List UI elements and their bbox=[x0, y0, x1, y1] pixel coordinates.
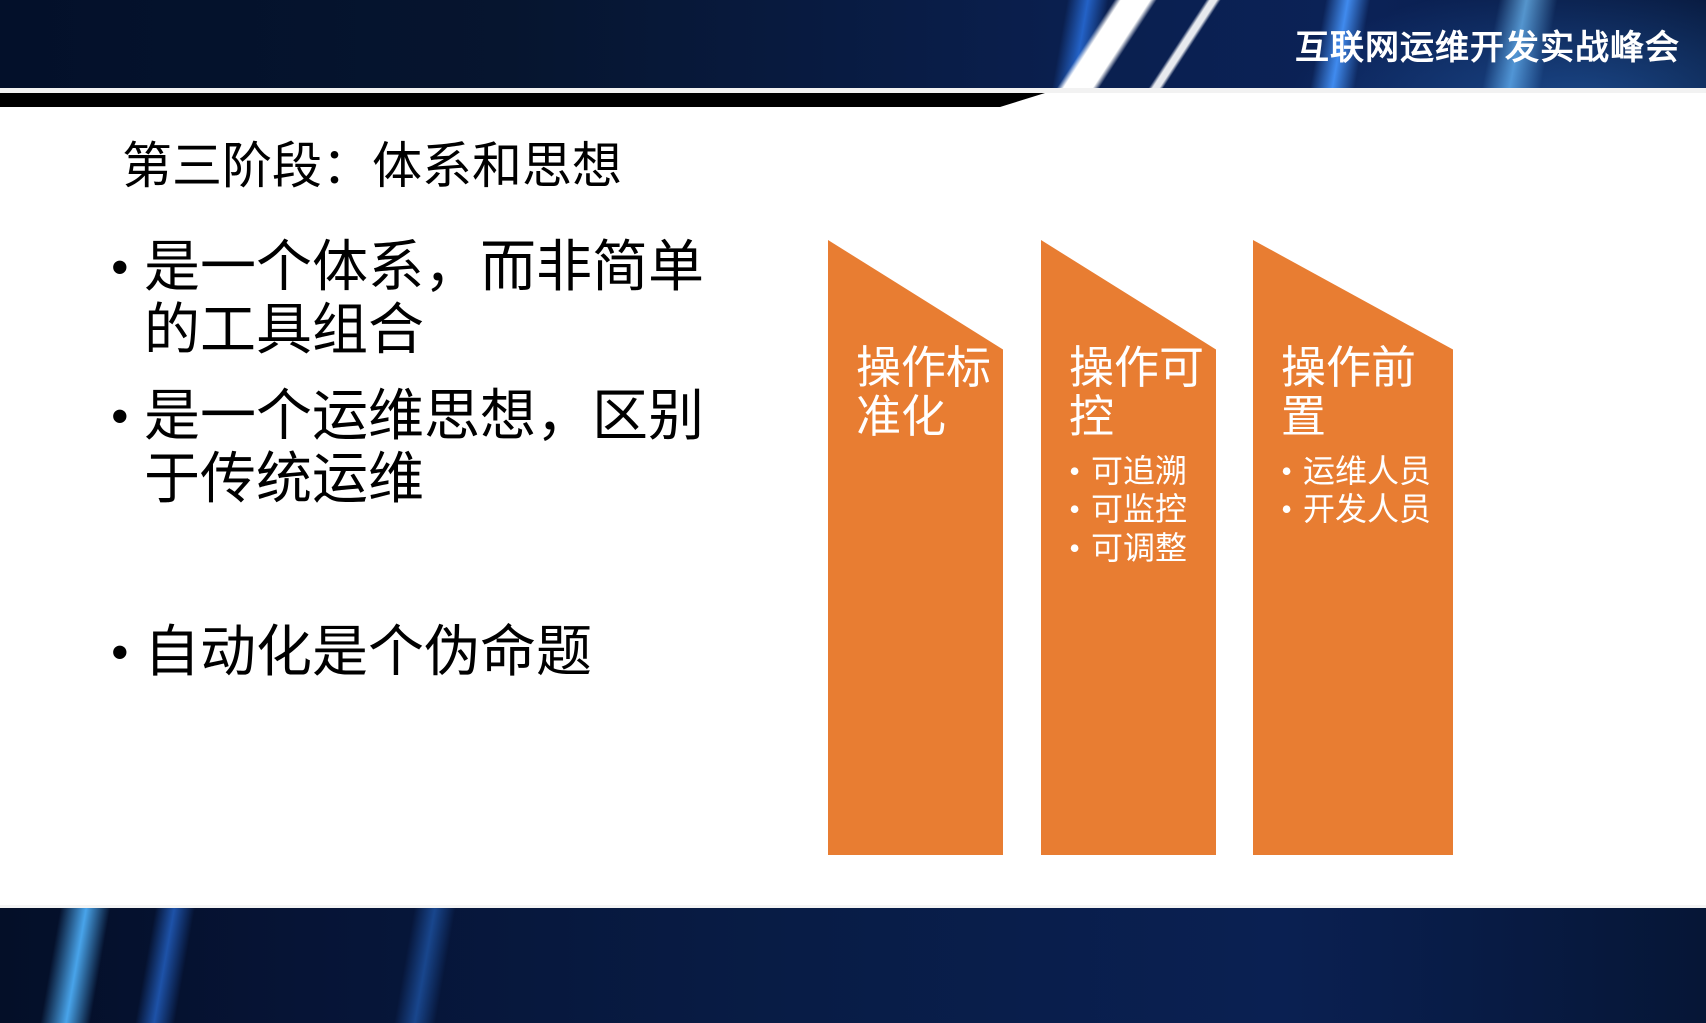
chevron-step-1: 操作标准化 bbox=[828, 240, 1003, 855]
sub-bullet-text: 开发人员 bbox=[1303, 491, 1431, 527]
bullet-marker-icon: • bbox=[110, 622, 144, 685]
bullet-marker-icon: • bbox=[110, 386, 144, 449]
bullet-text: 是一个运维思想，区别于传统运维 bbox=[144, 386, 750, 511]
bullet-text: 自动化是个伪命题 bbox=[144, 622, 592, 685]
list-item: • 运维人员 bbox=[1281, 453, 1449, 489]
sub-bullet-marker-icon: • bbox=[1069, 530, 1091, 566]
list-item: • 可追溯 bbox=[1069, 453, 1219, 489]
page-title: 第三阶段：体系和思想 bbox=[122, 139, 622, 194]
chevron-step-3-heading: 操作前置 bbox=[1281, 344, 1449, 441]
chevron-step-1-content: 操作标准化 bbox=[856, 344, 1006, 457]
bottom-banner bbox=[0, 908, 1706, 1023]
chevron-step-3: 操作前置 • 运维人员 • 开发人员 bbox=[1253, 240, 1453, 855]
chevron-step-1-heading: 操作标准化 bbox=[856, 344, 1006, 441]
list-item: • 开发人员 bbox=[1281, 491, 1449, 527]
conference-title: 互联网运维开发实战峰会 bbox=[1295, 20, 1680, 69]
chevron-step-3-content: 操作前置 • 运维人员 • 开发人员 bbox=[1281, 344, 1449, 544]
bullet-marker-icon: • bbox=[110, 237, 144, 300]
list-item: • 是一个体系，而非简单的工具组合 bbox=[110, 237, 750, 362]
list-item: • 自动化是个伪命题 bbox=[110, 622, 750, 685]
chevron-step-3-sublist: • 运维人员 • 开发人员 bbox=[1281, 453, 1449, 527]
sub-bullet-marker-icon: • bbox=[1281, 491, 1303, 527]
chevron-process-diagram: 操作标准化 操作可控 • 可追溯 • 可监控 • bbox=[828, 240, 1488, 860]
banner-diagonal-slash-icon bbox=[958, 0, 1232, 88]
sub-bullet-marker-icon: • bbox=[1281, 453, 1303, 489]
sub-bullet-marker-icon: • bbox=[1069, 453, 1091, 489]
list-item: • 可调整 bbox=[1069, 530, 1219, 566]
list-item: • 是一个运维思想，区别于传统运维 bbox=[110, 386, 750, 511]
chevron-step-2-sublist: • 可追溯 • 可监控 • 可调整 bbox=[1069, 453, 1219, 565]
bullet-text: 是一个体系，而非简单的工具组合 bbox=[144, 237, 750, 362]
sub-bullet-text: 可调整 bbox=[1091, 530, 1187, 566]
sub-bullet-text: 可监控 bbox=[1091, 491, 1187, 527]
sub-bullet-text: 运维人员 bbox=[1303, 453, 1431, 489]
chevron-step-2-heading: 操作可控 bbox=[1069, 344, 1219, 441]
banner-black-wedge bbox=[0, 93, 1706, 107]
top-banner: 互联网运维开发实战峰会 bbox=[0, 0, 1706, 88]
banner-diagonal-slash-secondary-icon bbox=[1088, 0, 1272, 88]
sub-bullet-marker-icon: • bbox=[1069, 491, 1091, 527]
slide-body: 第三阶段：体系和思想 • 是一个体系，而非简单的工具组合 • 是一个运维思想，区… bbox=[0, 107, 1706, 905]
sub-bullet-text: 可追溯 bbox=[1091, 453, 1187, 489]
chevron-step-2: 操作可控 • 可追溯 • 可监控 • 可调整 bbox=[1041, 240, 1216, 855]
list-item: • 可监控 bbox=[1069, 491, 1219, 527]
chevron-step-2-content: 操作可控 • 可追溯 • 可监控 • 可调整 bbox=[1069, 344, 1219, 582]
banner-white-divider bbox=[0, 88, 1706, 93]
bullet-list: • 是一个体系，而非简单的工具组合 • 是一个运维思想，区别于传统运维 • 自动… bbox=[110, 237, 750, 709]
